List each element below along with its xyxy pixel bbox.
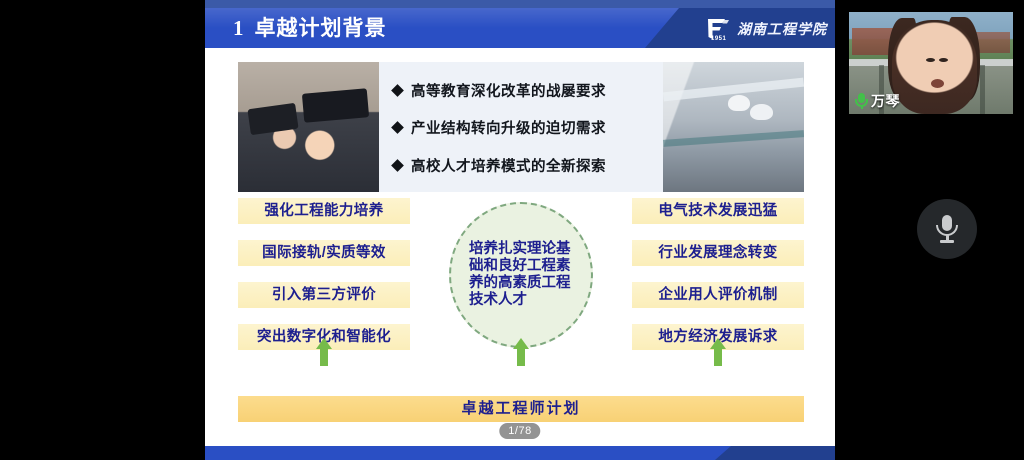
graduation-photo bbox=[238, 62, 379, 192]
list-item: 高等教育深化改革的战屡要求 bbox=[393, 80, 655, 101]
background-pole bbox=[980, 65, 985, 114]
center-goal-text: 培养扎实理论基础和良好工程素养的高素质工程技术人才 bbox=[469, 241, 573, 309]
person-mouth bbox=[931, 79, 944, 88]
participant-name-badge: 万琴 bbox=[855, 91, 900, 111]
university-logo: 1951 湖南工程学院 bbox=[705, 16, 827, 42]
microphone-icon bbox=[936, 215, 958, 243]
person-eye bbox=[926, 58, 935, 62]
presentation-slide[interactable]: 1卓越计划背景 1951 湖南工程学院 高等教育深化改革的战屡要求 bbox=[205, 0, 835, 460]
right-chip-column: 电气技术发展迅猛 行业发展理念转变 企业用人评价机制 地方经济发展诉求 bbox=[632, 198, 804, 350]
person-eye bbox=[939, 58, 948, 62]
bullet-text: 高校人才培养模式的全新探索 bbox=[411, 155, 606, 176]
section-title: 卓越计划背景 bbox=[255, 17, 387, 40]
university-name: 湖南工程学院 bbox=[737, 19, 827, 39]
slide-top-strip bbox=[205, 0, 835, 8]
list-item: 高校人才培养模式的全新探索 bbox=[393, 155, 655, 176]
screen-share-view: 1卓越计划背景 1951 湖南工程学院 高等教育深化改革的战屡要求 bbox=[0, 0, 1024, 460]
page-title: 1卓越计划背景 bbox=[233, 8, 387, 48]
university-emblem-icon: 1951 bbox=[705, 17, 731, 41]
center-goal-oval: 培养扎实理论基础和良好工程素养的高素质工程技术人才 bbox=[449, 202, 593, 348]
engineers-photo bbox=[663, 62, 804, 192]
bottom-banner: 卓越工程师计划 bbox=[238, 396, 804, 422]
up-arrow-icon bbox=[316, 338, 332, 366]
arrow-stem bbox=[320, 347, 328, 366]
up-arrow-icon bbox=[710, 338, 726, 366]
photo-beam-decor bbox=[663, 78, 804, 102]
list-item: 电气技术发展迅猛 bbox=[632, 198, 804, 224]
up-arrow-icon bbox=[513, 338, 529, 366]
bullet-text: 产业结构转向升级的迫切需求 bbox=[411, 117, 606, 138]
page-indicator: 1/78 bbox=[499, 423, 540, 439]
microphone-button[interactable] bbox=[917, 199, 977, 259]
bullet-text: 高等教育深化改革的战屡要求 bbox=[411, 80, 606, 101]
logo-year: 1951 bbox=[711, 36, 726, 42]
list-item: 强化工程能力培养 bbox=[238, 198, 410, 224]
diamond-bullet-icon bbox=[391, 159, 404, 172]
left-chip-column: 强化工程能力培养 国际接轨/实质等效 引入第三方评价 突出数字化和智能化 bbox=[238, 198, 410, 350]
slide-title-bar: 1卓越计划背景 1951 湖南工程学院 bbox=[205, 8, 835, 48]
diamond-bullet-icon bbox=[391, 84, 404, 97]
concept-diagram: 强化工程能力培养 国际接轨/实质等效 引入第三方评价 突出数字化和智能化 培养扎… bbox=[238, 198, 804, 366]
photo-rail-decor bbox=[663, 130, 804, 146]
list-item: 企业用人评价机制 bbox=[632, 282, 804, 308]
diamond-bullet-icon bbox=[391, 122, 404, 135]
slide-footer-bar bbox=[205, 446, 835, 460]
list-item: 行业发展理念转变 bbox=[632, 240, 804, 266]
microphone-active-icon bbox=[855, 93, 868, 109]
list-item: 引入第三方评价 bbox=[238, 282, 410, 308]
participant-name: 万琴 bbox=[871, 91, 900, 111]
arrow-stem bbox=[517, 347, 525, 366]
participant-video-tile[interactable]: 万琴 bbox=[845, 7, 1017, 119]
list-item: 产业结构转向升级的迫切需求 bbox=[393, 117, 655, 138]
photo-bullet-band: 高等教育深化改革的战屡要求 产业结构转向升级的迫切需求 高校人才培养模式的全新探… bbox=[238, 62, 804, 192]
mic-base bbox=[940, 240, 954, 243]
person-face bbox=[892, 20, 977, 114]
slide-footer-tab bbox=[715, 446, 835, 460]
bullet-list: 高等教育深化改革的战屡要求 产业结构转向升级的迫切需求 高校人才培养模式的全新探… bbox=[379, 62, 663, 192]
mic-stem bbox=[861, 106, 863, 109]
list-item: 国际接轨/实质等效 bbox=[238, 240, 410, 266]
section-number: 1 bbox=[233, 8, 245, 48]
arrow-stem bbox=[714, 347, 722, 366]
